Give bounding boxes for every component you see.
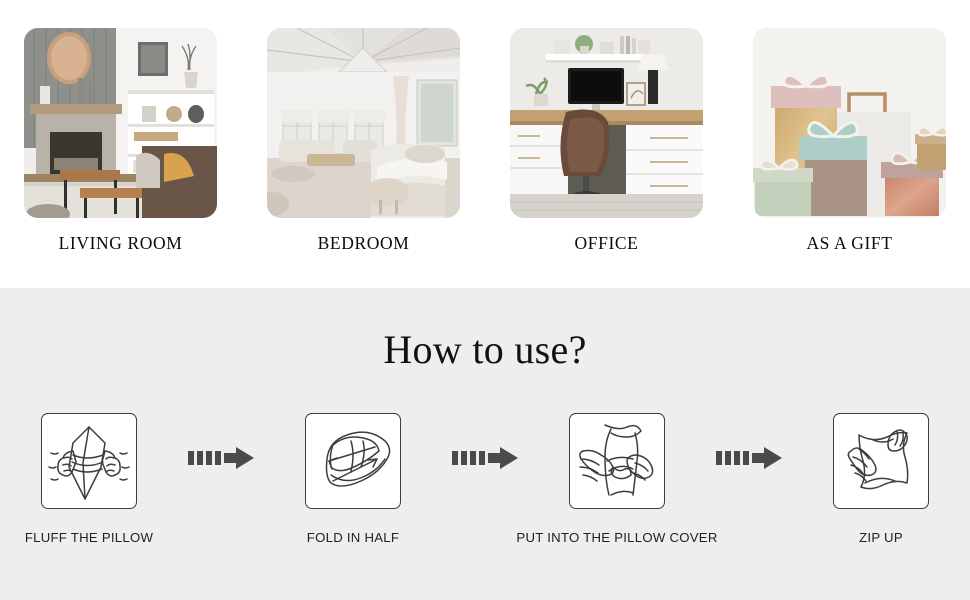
insert-pillow-icon — [569, 413, 665, 509]
zip-pillow-icon — [833, 413, 929, 509]
bedroom-photo — [267, 28, 460, 218]
dashed-right-arrow-icon — [182, 447, 260, 469]
fold-pillow-icon — [305, 413, 401, 509]
dashed-right-arrow-icon — [710, 447, 788, 469]
product-infographic-page: LIVING ROOM — [0, 0, 970, 600]
dashed-right-arrow-icon — [446, 447, 524, 469]
how-to-step-label: PUT INTO THE PILLOW COVER — [516, 530, 717, 545]
fluff-pillow-icon — [41, 413, 137, 509]
use-case-label: BEDROOM — [318, 233, 410, 254]
how-to-use-title: How to use? — [0, 288, 970, 373]
use-cases-row: LIVING ROOM — [0, 0, 970, 254]
use-case-label: OFFICE — [575, 233, 639, 254]
gift-boxes-photo — [753, 28, 946, 218]
office-photo — [510, 28, 703, 218]
use-cases-section: LIVING ROOM — [0, 0, 970, 288]
use-case-card-bedroom[interactable]: BEDROOM — [267, 28, 460, 254]
use-case-card-gift[interactable]: AS A GIFT — [753, 28, 946, 254]
how-to-step: ZIP UP — [788, 413, 970, 545]
living-room-photo — [24, 28, 217, 218]
how-to-steps-row: FLUFF THE PILLOW — [0, 413, 970, 545]
how-to-step: PUT INTO THE PILLOW COVER — [524, 413, 710, 545]
use-case-label: LIVING ROOM — [59, 233, 183, 254]
how-to-step: FLUFF THE PILLOW — [0, 413, 182, 545]
use-case-card-living-room[interactable]: LIVING ROOM — [24, 28, 217, 254]
how-to-step-label: FLUFF THE PILLOW — [25, 530, 153, 545]
how-to-step: FOLD IN HALF — [260, 413, 446, 545]
how-to-step-label: FOLD IN HALF — [307, 530, 399, 545]
how-to-step-label: ZIP UP — [859, 530, 903, 545]
how-to-use-section: How to use? — [0, 288, 970, 600]
use-case-label: AS A GIFT — [806, 233, 892, 254]
use-case-card-office[interactable]: OFFICE — [510, 28, 703, 254]
